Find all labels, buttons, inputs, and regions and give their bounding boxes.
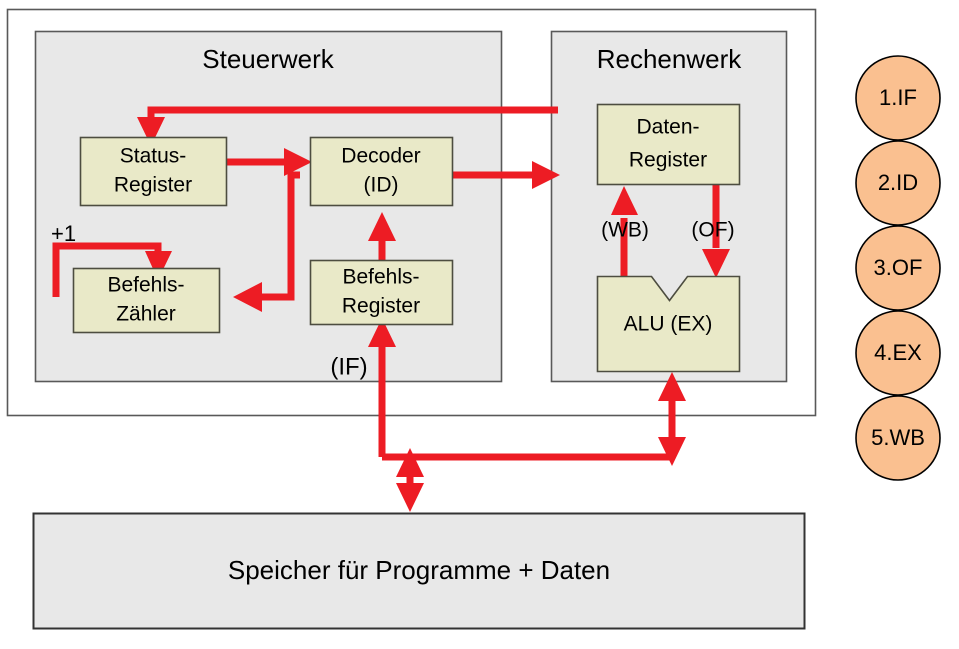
memory-label: Speicher für Programme + Daten [228,555,610,585]
stage-label-4: 4.EX [874,340,922,365]
arrowhead-into-bus-from-alu [658,437,686,466]
unit-data-register[interactable]: Daten- Register [598,105,740,185]
stage-circle-3[interactable]: 3.OF [856,226,940,310]
stage-circle-2[interactable]: 2.ID [856,141,940,225]
decoder-line1: Decoder [341,145,420,168]
unit-program-counter[interactable]: Befehls- Zähler [74,269,220,333]
program-counter-line1: Befehls- [107,274,184,297]
arrowhead-down-to-memory [396,483,424,512]
operand-fetch-label: (OF) [691,219,734,242]
datapath-title: Rechenwerk [597,44,743,74]
increment-label: +1 [51,221,76,246]
stage-label-1: 1.IF [879,85,917,110]
pipeline-stage-list: 1.IF 2.ID 3.OF 4.EX 5.WB [856,56,940,480]
writeback-label: (WB) [601,219,649,242]
decoder-line2: (ID) [364,174,399,197]
arrowhead-up-to-bus [396,448,424,477]
diagram-canvas: Steuerwerk Rechenwerk +1 [0,0,959,649]
unit-status-register[interactable]: Status- Register [81,138,227,206]
stage-label-5: 5.WB [871,425,925,450]
stage-circle-1[interactable]: 1.IF [856,56,940,140]
stage-label-3: 3.OF [874,255,923,280]
instruction-register-line2: Register [342,295,420,318]
fetch-phase-label: (IF) [330,353,367,380]
unit-instruction-register[interactable]: Befehls- Register [311,261,453,325]
instruction-register-line1: Befehls- [342,266,419,289]
unit-decoder[interactable]: Decoder (ID) [311,138,453,206]
stage-circle-5[interactable]: 5.WB [856,396,940,480]
memory-block[interactable]: Speicher für Programme + Daten [34,514,805,629]
cpu-block-diagram: Steuerwerk Rechenwerk +1 [0,0,959,649]
status-register-line2: Register [114,174,192,197]
alu-label: ALU (EX) [624,313,713,336]
stage-circle-4[interactable]: 4.EX [856,311,940,395]
status-register-line1: Status- [120,145,187,168]
program-counter-line2: Zähler [116,303,176,326]
data-register-line1: Daten- [636,116,699,139]
data-register-line2: Register [629,149,707,172]
control-unit-title: Steuerwerk [202,44,334,74]
stage-label-2: 2.ID [878,170,918,195]
